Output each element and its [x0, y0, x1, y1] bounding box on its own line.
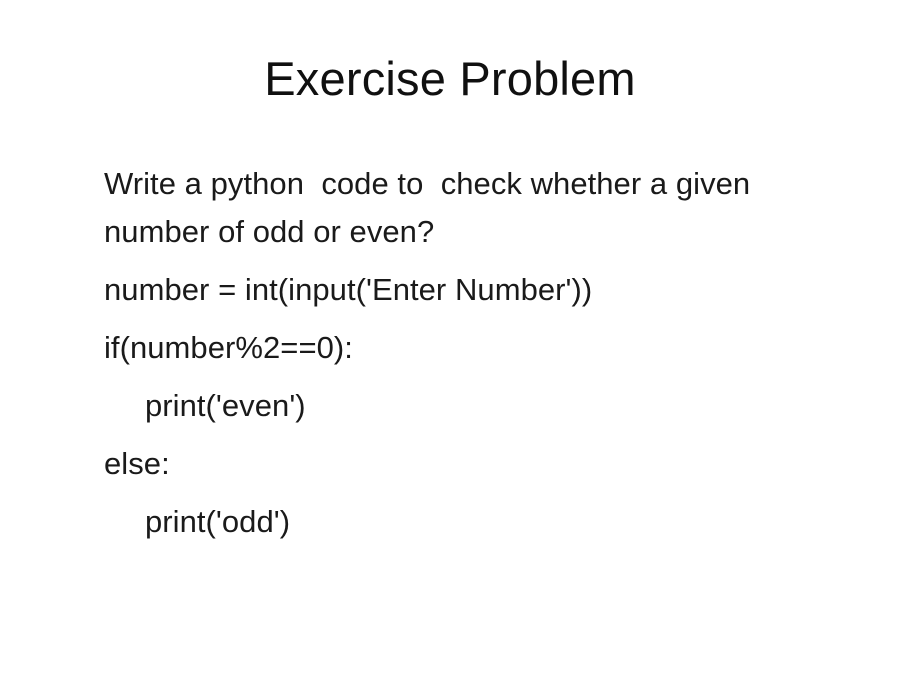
slide-title: Exercise Problem — [0, 52, 900, 107]
presentation-slide: Exercise Problem Write a python code to … — [0, 0, 900, 675]
code-line-else: else: — [104, 440, 804, 488]
slide-body: Write a python code to check whether a g… — [104, 160, 804, 546]
exercise-prompt-text: Write a python code to check whether a g… — [104, 160, 794, 256]
code-line-print-odd: print('odd') — [104, 498, 804, 546]
code-line-input: number = int(input('Enter Number')) — [104, 266, 804, 314]
code-line-if: if(number%2==0): — [104, 324, 804, 372]
code-line-print-even: print('even') — [104, 382, 804, 430]
